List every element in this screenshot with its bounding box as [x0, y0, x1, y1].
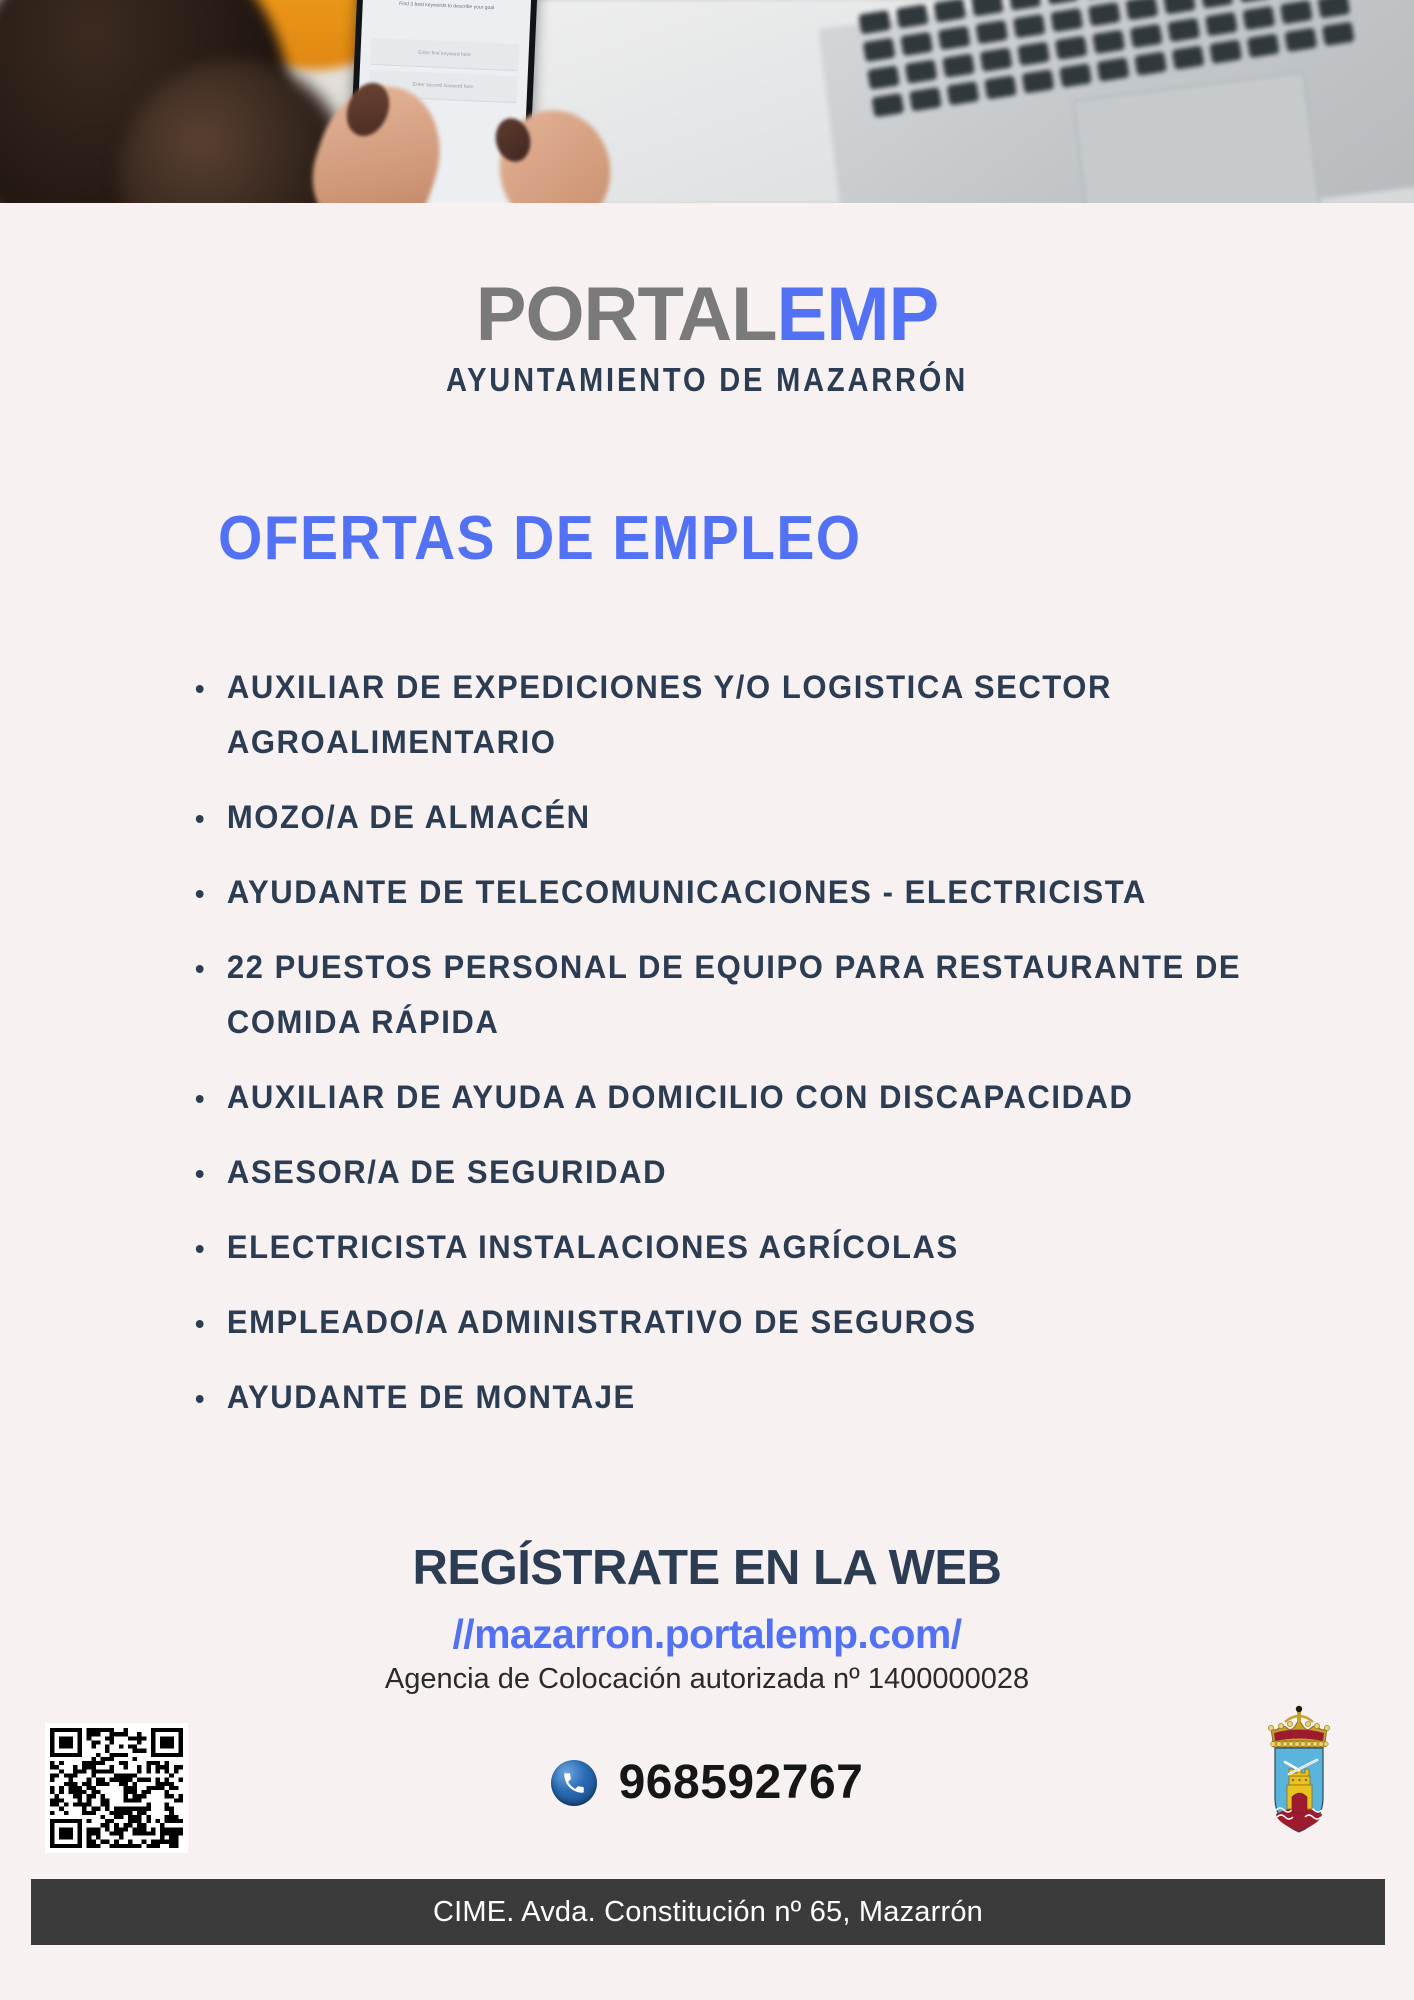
phone-mock-field-1: Enter first keyword here — [370, 38, 519, 71]
keyboard-key — [858, 10, 891, 34]
keyboard-key — [863, 38, 896, 62]
brand-header: PORTALEMP AYUNTAMIENTO DE MAZARRÓN — [0, 275, 1414, 399]
logo-emp-text: EMP — [777, 272, 939, 357]
keyboard-key — [1050, 8, 1083, 32]
portalemp-logo: PORTALEMP — [0, 275, 1414, 355]
qr-code-canvas — [50, 1728, 183, 1848]
keyboard-key — [1238, 0, 1271, 3]
keyboard-key — [905, 59, 938, 83]
keyboard-key — [938, 26, 971, 50]
job-offer-item: EMPLEADO/A ADMINISTRATIVO DE SEGUROS — [190, 1295, 1257, 1350]
keyboard-key — [1088, 2, 1121, 26]
keyboard-key — [867, 65, 900, 89]
keyboard-key — [1209, 40, 1242, 64]
phone-number: 968592767 — [619, 1755, 864, 1810]
keyboard-key — [975, 20, 1008, 44]
keyboard-key — [1046, 0, 1079, 5]
hero-image: the world. You will be able to gain foll… — [0, 0, 1414, 203]
agency-authorization-note: Agencia de Colocación autorizada nº 1400… — [0, 1660, 1414, 1698]
keyboard-key — [933, 0, 966, 23]
keyboard-key — [909, 87, 942, 111]
keyboard-key — [1242, 6, 1275, 30]
job-offer-item: ASESOR/A DE SEGURIDAD — [190, 1145, 1257, 1200]
keyboard-key — [1247, 34, 1280, 58]
keyboard-key — [1163, 0, 1196, 15]
hero-photo-composite: the world. You will be able to gain foll… — [0, 0, 1414, 203]
cta-section: REGÍSTRATE EN LA WEB //mazarron.portalem… — [0, 1540, 1414, 1698]
logo-portal-text: PORTAL — [476, 272, 777, 357]
keyboard-key — [1097, 57, 1130, 81]
mazarron-coat-of-arms — [1259, 1702, 1339, 1838]
brand-subtitle: AYUNTAMIENTO DE MAZARRÓN — [85, 361, 1329, 399]
keyboard-key — [900, 32, 933, 56]
keyboard-key — [1318, 0, 1351, 18]
job-offer-item: AUXILIAR DE EXPEDICIONES Y/O LOGISTICA S… — [190, 660, 1257, 770]
keyboard-key — [1125, 0, 1158, 21]
keyboard-key — [1205, 12, 1238, 36]
job-offer-item: 22 PUESTOS PERSONAL DE EQUIPO PARA RESTA… — [190, 940, 1257, 1050]
job-offer-item: AYUDANTE DE MONTAJE — [190, 1370, 1257, 1425]
keyboard-key — [896, 4, 929, 28]
website-link[interactable]: //mazarron.portalemp.com/ — [0, 1610, 1414, 1658]
contact-phone-row: 968592767 — [0, 1755, 1414, 1810]
job-offer-item: ELECTRICISTA INSTALACIONES AGRÍCOLAS — [190, 1220, 1257, 1275]
keyboard-key — [1013, 14, 1046, 38]
keyboard-key — [980, 48, 1013, 72]
keyboard-key — [1201, 0, 1234, 9]
keyboard-key — [1284, 28, 1317, 52]
keyboard-key — [1009, 0, 1042, 11]
job-offers-list: AUXILIAR DE EXPEDICIONES Y/O LOGISTICA S… — [190, 660, 1290, 1445]
phone-icon — [551, 1760, 597, 1806]
footer-address: CIME. Avda. Constitución nº 65, Mazarrón — [433, 1896, 983, 1929]
phone-mock-prompt: Find 3 best keywords to describe your go… — [373, 0, 521, 12]
keyboard-key — [947, 81, 980, 105]
footer-bar: CIME. Avda. Constitución nº 65, Mazarrón — [31, 1879, 1385, 1945]
qr-code[interactable] — [45, 1723, 188, 1853]
keyboard-key — [942, 53, 975, 77]
keyboard-key — [872, 93, 905, 117]
job-offer-item: MOZO/A DE ALMACÉN — [190, 790, 1257, 845]
keyboard-key — [1022, 69, 1055, 93]
keyboard-key — [1130, 24, 1163, 48]
keyboard-key — [1172, 45, 1205, 69]
job-offer-item: AYUDANTE DE TELECOMUNICACIONES - ELECTRI… — [190, 865, 1257, 920]
keyboard-key — [1055, 36, 1088, 60]
keyboard-key — [1059, 63, 1092, 87]
keyboard-key — [1322, 22, 1355, 46]
keyboard-key — [971, 0, 1004, 17]
keyboard-key — [1017, 42, 1050, 66]
crown-icon — [1268, 1706, 1329, 1747]
keyboard-key — [1092, 30, 1125, 54]
keyboard-key — [984, 75, 1017, 99]
page-title: OFERTAS DE EMPLEO — [218, 508, 862, 570]
keyboard-key — [1134, 51, 1167, 75]
keyboard-key — [1167, 18, 1200, 42]
cta-title: REGÍSTRATE EN LA WEB — [0, 1540, 1414, 1596]
keyboard-key — [1280, 0, 1313, 24]
job-offer-item: AUXILIAR DE AYUDA A DOMICILIO CON DISCAP… — [190, 1070, 1257, 1125]
